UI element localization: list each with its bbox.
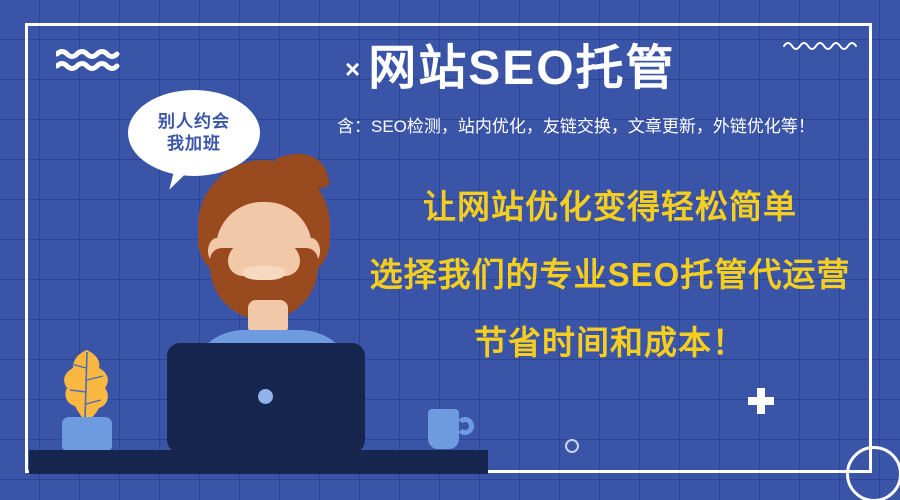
speech-bubble-line-1: 别人约会: [158, 111, 230, 133]
title-text: 网站SEO托管: [368, 42, 675, 95]
person-illustration: [180, 160, 370, 370]
plant-pot: [62, 417, 112, 451]
coffee-mug-handle: [456, 417, 474, 435]
headline-line-1: 让网站优化变得轻松简单: [330, 190, 890, 223]
wave-lines-icon: [56, 48, 122, 72]
small-circle-decoration: [565, 439, 579, 453]
coffee-mug: [428, 409, 459, 449]
speech-bubble-line-2: 我加班: [158, 133, 230, 155]
page-title: ×网站SEO托管: [345, 45, 885, 93]
laptop-logo-dot: [258, 389, 273, 404]
speech-bubble-text: 别人约会 我加班: [158, 111, 230, 156]
headline-line-2: 选择我们的专业SEO托管代运营: [330, 258, 890, 291]
headline-group: 让网站优化变得轻松简单 选择我们的专业SEO托管代运营 节省时间和成本！: [330, 190, 890, 359]
corner-circle-decoration: [846, 446, 900, 500]
desk-surface: [29, 450, 488, 474]
headline-line-3: 节省时间和成本！: [330, 326, 890, 359]
title-cross-icon: ×: [345, 54, 362, 84]
subtitle: 含：SEO检测，站内优化，友链交换，文章更新，外链优化等！: [337, 117, 887, 137]
plant-leaf-icon: [61, 350, 113, 422]
seo-promo-banner: ×网站SEO托管 含：SEO检测，站内优化，友链交换，文章更新，外链优化等！ 让…: [0, 0, 900, 500]
mouth: [242, 266, 286, 280]
plus-decoration-icon: [748, 388, 774, 414]
